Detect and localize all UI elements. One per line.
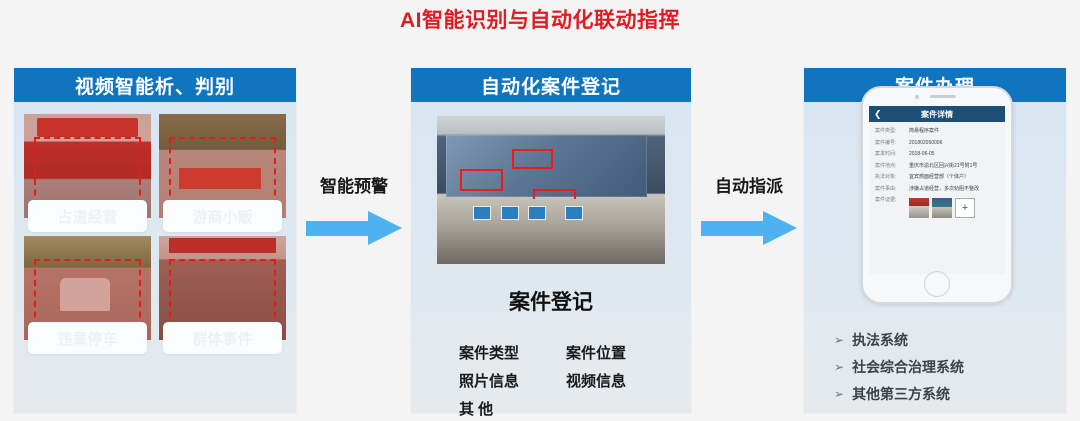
evidence-photo-1[interactable]: [909, 198, 929, 218]
phone-screen: ❮ 案件详情 案件类型: 简易程序案件 案件编号: 201802050006 案…: [869, 106, 1005, 274]
right-arrow-icon: [701, 211, 797, 245]
case-registration-title: 案件登记: [411, 286, 691, 316]
system-item-enforcement[interactable]: ➢ 执法系统: [834, 330, 1054, 350]
detail-key: 案件地点:: [875, 163, 909, 171]
system-item-label: 社会综合治理系统: [852, 357, 964, 377]
arrow-bullet-icon: ➢: [834, 388, 844, 400]
thumb-cell-4[interactable]: 群体事件: [159, 236, 286, 354]
detection-box: [512, 149, 552, 169]
arrow-bullet-icon: ➢: [834, 361, 844, 373]
arrow-label-auto-dispatch: 自动指派: [695, 172, 803, 197]
case-detail-rows: 案件类型: 简易程序案件 案件编号: 201802050006 案发时间: 20…: [869, 122, 1005, 218]
flow-arrow-smart-alert: 智能预警: [300, 172, 408, 245]
arrow-label-smart-alert: 智能预警: [300, 172, 408, 197]
monitor-icon: [528, 206, 546, 220]
detection-box: [460, 169, 503, 191]
detail-value: 涉嫌占道经营，多次劝阻不整改: [909, 186, 999, 194]
detection-box: [169, 137, 276, 206]
case-field-photo: 照片信息: [459, 370, 566, 391]
arrow-bullet-icon: ➢: [834, 334, 844, 346]
panel-auto-case-registration: 自动化案件登记 案件登记 案件类型 案件位置 照片信息 视频信息 其 他: [411, 68, 691, 413]
connected-systems-list: ➢ 执法系统 ➢ 社会综合治理系统 ➢ 其他第三方系统: [834, 330, 1054, 411]
panel-case-handling: 案件办理 ❮ 案件详情 案件类型: 简易程序案件 案件编号: 201802050…: [804, 68, 1066, 413]
operator-desks: [437, 199, 665, 264]
detail-row: 案件事由: 涉嫌占道经营，多次劝阻不整改: [875, 186, 999, 194]
add-evidence-button[interactable]: +: [955, 198, 975, 218]
monitor-icon: [565, 206, 583, 220]
flow-arrow-auto-dispatch: 自动指派: [695, 172, 803, 245]
detail-key: 案件编号:: [875, 140, 909, 148]
detection-box: [169, 259, 276, 328]
monitor-icon: [501, 206, 519, 220]
detail-row: 案件地点: 重庆市渝北区回兴街21号附1号: [875, 163, 999, 171]
detail-value: 201802050006: [909, 140, 999, 148]
system-item-third-party[interactable]: ➢ 其他第三方系统: [834, 384, 1054, 404]
evidence-row: 案件证据: +: [875, 197, 999, 218]
thumb-caption-1: 占道经营: [28, 200, 147, 232]
case-field-location: 案件位置: [566, 342, 673, 363]
detail-row: 执法对象: 宜宾燃面经营部（个体户）: [875, 174, 999, 182]
detail-row: 案发时间: 2018-06-05: [875, 151, 999, 159]
system-item-label: 其他第三方系统: [852, 384, 950, 404]
detail-value: 2018-06-05: [909, 151, 999, 159]
detail-key: 案件事由:: [875, 186, 909, 194]
app-title-bar: ❮ 案件详情: [869, 106, 1005, 122]
evidence-thumbnails: +: [909, 198, 999, 218]
detail-value: 宜宾燃面经营部（个体户）: [909, 174, 999, 182]
home-button-icon[interactable]: [924, 271, 950, 297]
thumb-caption-3: 违章停车: [28, 322, 147, 354]
detection-box: [34, 137, 141, 206]
earpiece-speaker-icon: [930, 95, 956, 98]
page-title: AI智能识别与自动化联动指挥: [0, 4, 1080, 34]
right-arrow-icon: [306, 211, 402, 245]
thumb-caption-2: 游商小贩: [163, 200, 282, 232]
panel-video-analysis: 视频智能析、判别 占道经营 游商小贩: [14, 68, 296, 413]
evidence-photo-2[interactable]: [932, 198, 952, 218]
detail-row: 案件类型: 简易程序案件: [875, 128, 999, 136]
panel-header-video-analysis: 视频智能析、判别: [14, 68, 296, 102]
detail-value: 重庆市渝北区回兴街21号附1号: [909, 163, 999, 171]
command-center-photo: [437, 116, 665, 264]
panel-header-auto-case-registration: 自动化案件登记: [411, 68, 691, 102]
detail-value: 简易程序案件: [909, 128, 999, 136]
detection-box: [34, 259, 141, 328]
detail-key: 案发时间:: [875, 151, 909, 159]
case-field-type: 案件类型: [459, 342, 566, 363]
front-camera-icon: [915, 95, 919, 99]
thumb-cell-3[interactable]: 违章停车: [24, 236, 151, 354]
case-field-other: 其 他: [459, 398, 566, 419]
thumbnail-grid: 占道经营 游商小贩 违章停车: [14, 102, 296, 354]
thumb-cell-1[interactable]: 占道经营: [24, 114, 151, 232]
app-screen-title: 案件详情: [869, 109, 1005, 120]
thumb-caption-4: 群体事件: [163, 322, 282, 354]
detail-key: 执法对象:: [875, 174, 909, 182]
system-item-label: 执法系统: [852, 330, 908, 350]
system-item-social-governance[interactable]: ➢ 社会综合治理系统: [834, 357, 1054, 377]
case-field-video: 视频信息: [566, 370, 673, 391]
thumb-cell-2[interactable]: 游商小贩: [159, 114, 286, 232]
monitor-icon: [473, 206, 491, 220]
detail-key: 案件类型:: [875, 128, 909, 136]
case-field-list: 案件类型 案件位置 照片信息 视频信息 其 他: [411, 342, 691, 419]
phone-top-bezel: [863, 88, 1011, 106]
detail-row: 案件编号: 201802050006: [875, 140, 999, 148]
evidence-label: 案件证据:: [875, 197, 909, 218]
phone-mockup: ❮ 案件详情 案件类型: 简易程序案件 案件编号: 201802050006 案…: [861, 86, 1013, 304]
